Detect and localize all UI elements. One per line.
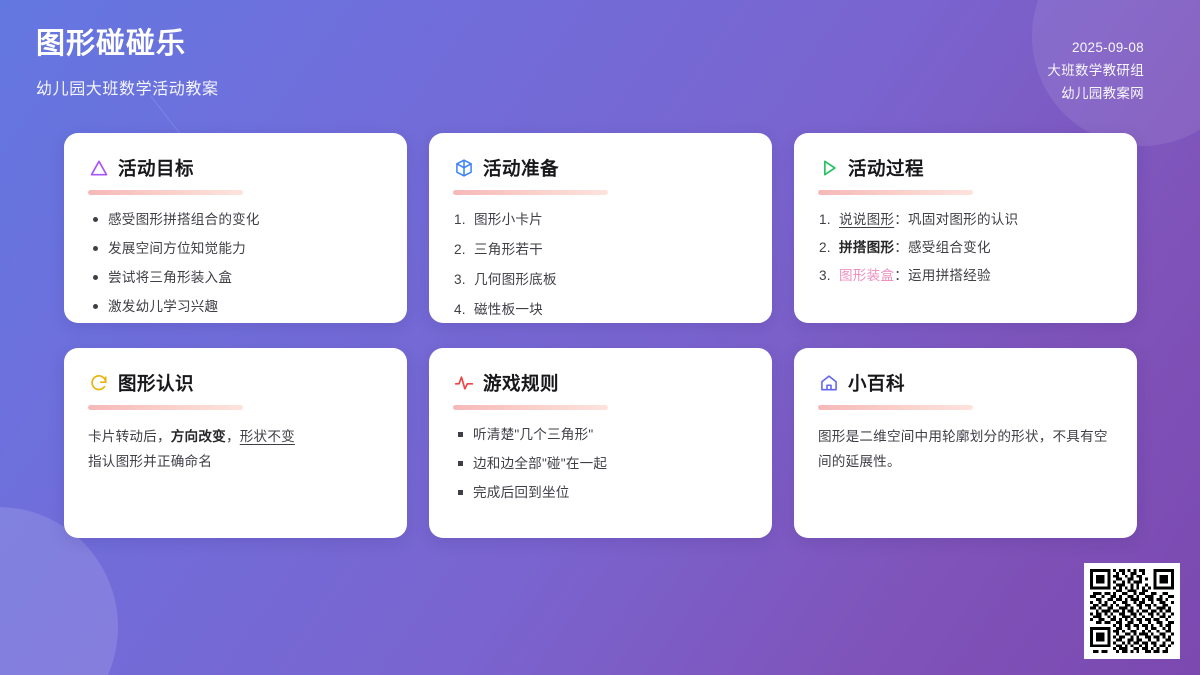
- header-meta: 2025-09-08 大班数学教研组 幼儿园教案网: [1047, 36, 1144, 106]
- encyclopedia-paragraph: 图形是二维空间中用轮廓划分的形状，不具有空间的延展性。: [818, 425, 1113, 474]
- card-title: 活动准备: [483, 155, 559, 181]
- card-body: 说说图形：巩固对图形的认识 拼搭图形：感受组合变化 图形装盒：运用拼搭经验: [818, 210, 1113, 285]
- qr-code-image: [1090, 569, 1174, 653]
- qr-code[interactable]: [1084, 563, 1180, 659]
- card-objectives[interactable]: 活动目标 感受图形拼搭组合的变化 发展空间方位知觉能力 尝试将三角形装入盒 激发…: [64, 133, 407, 323]
- cube-icon: [453, 158, 474, 179]
- card-body: 听清楚"几个三角形" 边和边全部"碰"在一起 完成后回到坐位: [453, 425, 748, 502]
- list-item: 完成后回到坐位: [453, 483, 748, 502]
- card-title: 小百科: [848, 370, 905, 396]
- activity-pulse-icon: [453, 373, 474, 394]
- card-materials[interactable]: 活动准备 图形小卡片 三角形若干 几何图形底板 磁性板一块: [429, 133, 772, 323]
- step-rest: ：运用拼搭经验: [894, 268, 991, 283]
- title-underline-bar: [453, 405, 608, 410]
- title-underline-bar: [453, 190, 608, 195]
- list-item: 边和边全部"碰"在一起: [453, 454, 748, 473]
- title-underline-bar: [818, 190, 973, 195]
- card-body: 图形小卡片 三角形若干 几何图形底板 磁性板一块: [453, 210, 748, 319]
- step-rest: ：感受组合变化: [894, 240, 991, 255]
- home-icon: [818, 373, 839, 394]
- card-title: 活动过程: [848, 155, 924, 181]
- card-title: 游戏规则: [483, 370, 559, 396]
- card-header: 游戏规则: [453, 370, 748, 396]
- process-list: 说说图形：巩固对图形的认识 拼搭图形：感受组合变化 图形装盒：运用拼搭经验: [818, 210, 1113, 285]
- list-item: 几何图形底板: [453, 270, 748, 289]
- card-header: 活动准备: [453, 155, 748, 181]
- list-item: 图形小卡片: [453, 210, 748, 229]
- list-item: 发展空间方位知觉能力: [88, 239, 383, 258]
- header-site: 幼儿园教案网: [1047, 82, 1144, 105]
- step-rest: ：巩固对图形的认识: [894, 212, 1018, 227]
- page-subtitle: 幼儿园大班数学活动教案: [36, 75, 219, 99]
- text-comma: ，: [226, 429, 240, 444]
- card-body: 感受图形拼搭组合的变化 发展空间方位知觉能力 尝试将三角形装入盒 激发幼儿学习兴…: [88, 210, 383, 316]
- text-underline: 形状不变: [240, 429, 295, 444]
- step-lead: 图形装盒: [839, 268, 894, 283]
- card-title: 活动目标: [118, 155, 194, 181]
- card-process[interactable]: 活动过程 说说图形：巩固对图形的认识 拼搭图形：感受组合变化 图形装盒：运用拼搭…: [794, 133, 1137, 323]
- page-title: 图形碰碰乐: [36, 26, 219, 62]
- step-lead: 拼搭图形: [839, 240, 894, 255]
- play-triangle-icon: [818, 158, 839, 179]
- card-encyclopedia[interactable]: 小百科 图形是二维空间中用轮廓划分的形状，不具有空间的延展性。: [794, 348, 1137, 538]
- slide-header: 图形碰碰乐 幼儿园大班数学活动教案 2025-09-08 大班数学教研组 幼儿园…: [0, 0, 1200, 128]
- header-org: 大班数学教研组: [1047, 59, 1144, 82]
- card-rules[interactable]: 游戏规则 听清楚"几个三角形" 边和边全部"碰"在一起 完成后回到坐位: [429, 348, 772, 538]
- card-body: 图形是二维空间中用轮廓划分的形状，不具有空间的延展性。: [818, 425, 1113, 474]
- list-item: 激发幼儿学习兴趣: [88, 297, 383, 316]
- objectives-list: 感受图形拼搭组合的变化 发展空间方位知觉能力 尝试将三角形装入盒 激发幼儿学习兴…: [88, 210, 383, 316]
- card-grid: 活动目标 感受图形拼搭组合的变化 发展空间方位知觉能力 尝试将三角形装入盒 激发…: [64, 133, 1136, 538]
- card-title: 图形认识: [118, 370, 194, 396]
- list-item: 听清楚"几个三角形": [453, 425, 748, 444]
- card-recognition[interactable]: 图形认识 卡片转动后，方向改变，形状不变 指认图形并正确命名: [64, 348, 407, 538]
- list-item: 三角形若干: [453, 240, 748, 259]
- recognition-paragraph: 卡片转动后，方向改变，形状不变 指认图形并正确命名: [88, 425, 383, 474]
- header-date: 2025-09-08: [1047, 36, 1144, 59]
- text-plain: 卡片转动后，: [88, 429, 171, 444]
- card-header: 图形认识: [88, 370, 383, 396]
- text-bold: 方向改变: [171, 429, 226, 444]
- header-title-group: 图形碰碰乐 幼儿园大班数学活动教案: [36, 26, 219, 99]
- card-header: 活动过程: [818, 155, 1113, 181]
- list-item: 磁性板一块: [453, 300, 748, 319]
- slide-root: 图形碰碰乐 幼儿园大班数学活动教案 2025-09-08 大班数学教研组 幼儿园…: [0, 0, 1200, 675]
- rotate-cw-icon: [88, 373, 109, 394]
- list-item: 拼搭图形：感受组合变化: [818, 238, 1113, 257]
- list-item: 尝试将三角形装入盒: [88, 268, 383, 287]
- card-header: 小百科: [818, 370, 1113, 396]
- list-item: 图形装盒：运用拼搭经验: [818, 266, 1113, 285]
- title-underline-bar: [88, 190, 243, 195]
- list-item: 感受图形拼搭组合的变化: [88, 210, 383, 229]
- list-item: 说说图形：巩固对图形的认识: [818, 210, 1113, 229]
- triangle-icon: [88, 158, 109, 179]
- step-lead: 说说图形: [839, 212, 894, 227]
- materials-list: 图形小卡片 三角形若干 几何图形底板 磁性板一块: [453, 210, 748, 319]
- title-underline-bar: [818, 405, 973, 410]
- card-header: 活动目标: [88, 155, 383, 181]
- card-body: 卡片转动后，方向改变，形状不变 指认图形并正确命名: [88, 425, 383, 474]
- title-underline-bar: [88, 405, 243, 410]
- rules-list: 听清楚"几个三角形" 边和边全部"碰"在一起 完成后回到坐位: [453, 425, 748, 502]
- text-line2: 指认图形并正确命名: [88, 454, 212, 469]
